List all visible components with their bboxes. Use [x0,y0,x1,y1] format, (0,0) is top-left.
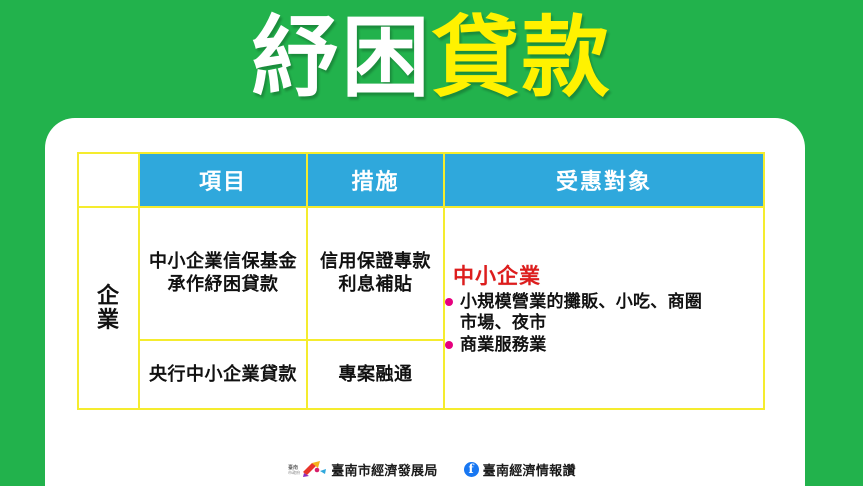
category-char-1: 企 [79,284,138,308]
bullet-1-line-2: 市場、夜市 [460,313,547,332]
beneficiary-cell: 中小企業 小規模營業的攤販、小吃、商圈 市場、夜市 商業服務業 [444,207,764,409]
beneficiary-list: 小規模營業的攤販、小吃、商圈 市場、夜市 商業服務業 [445,291,763,355]
item-line-1: 中小企業信保基金 [140,250,306,273]
measure-line-2: 利息補貼 [308,273,443,296]
poster-canvas: 紓困貸款 項目 措施 受惠對象 企 業 [0,0,863,486]
footer-dept-group: 臺南 市政府 臺南市經濟發展局 [287,460,437,479]
table-row: 企 業 中小企業信保基金 承作紓困貸款 信用保證專款 利息補貼 中小企業 [78,207,764,340]
list-item: 商業服務業 [445,334,763,355]
bullet-2-line-1: 商業服務業 [460,335,547,354]
category-char-2: 業 [79,308,138,332]
footer-facebook-group[interactable]: f 臺南經濟情報讚 [464,460,576,479]
list-item: 小規模營業的攤販、小吃、商圈 市場、夜市 [445,291,763,333]
header-measure: 措施 [307,153,444,207]
header-beneficiary: 受惠對象 [444,153,764,207]
measure-cell-row2: 專案融通 [307,340,444,409]
measure-cell-row1: 信用保證專款 利息補貼 [307,207,444,340]
page-title: 紓困貸款 [0,6,863,110]
table-header-row: 項目 措施 受惠對象 [78,153,764,207]
item-line-2: 承作紓困貸款 [140,273,306,296]
bullet-dot-icon [445,298,453,306]
item-cell-row2: 央行中小企業貸款 [139,340,307,409]
benefit-table: 項目 措施 受惠對象 企 業 中小企業信保基金 承作紓困貸款 信用保證專款 利息… [77,152,765,410]
footer-dept-name: 臺南市經濟發展局 [331,460,437,479]
category-cell-enterprise: 企 業 [78,207,139,409]
title-part-loan: 貸款 [432,6,612,109]
svg-text:市政府: 市政府 [288,469,300,475]
tainan-government-logo-icon: 臺南 市政府 [287,460,327,478]
header-blank [78,153,139,207]
bullet-1-line-1: 小規模營業的攤販、小吃、商圈 [460,292,702,311]
item-line-1: 央行中小企業貸款 [140,363,306,386]
footer: 臺南 市政府 臺南市經濟發展局 f 臺南經濟情報讚 [0,456,863,482]
item-cell-row1: 中小企業信保基金 承作紓困貸款 [139,207,307,340]
footer-facebook-page-name[interactable]: 臺南經濟情報讚 [483,460,576,479]
bullet-dot-icon [445,341,453,349]
measure-line-1: 信用保證專款 [308,250,443,273]
facebook-icon[interactable]: f [464,462,479,477]
title-part-relief: 紓困 [251,6,431,109]
beneficiary-heading: 中小企業 [453,260,763,290]
header-item: 項目 [139,153,307,207]
measure-line-1: 專案融通 [308,363,443,386]
